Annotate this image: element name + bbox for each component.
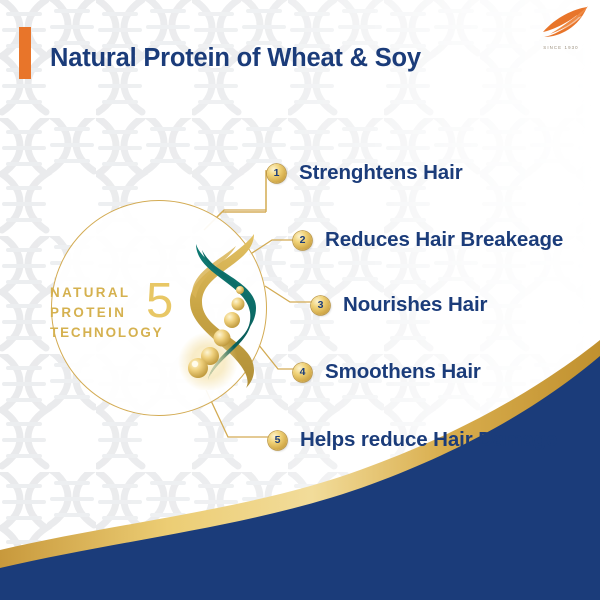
title-accent-bar: [19, 27, 31, 79]
benefit-item-4[interactable]: 4 Smoothens Hair: [293, 360, 481, 384]
benefit-item-3[interactable]: 3 Nourishes Hair: [311, 293, 487, 317]
benefit-item-5[interactable]: 5 Helps reduce Hair Damage: [268, 428, 557, 452]
benefit-label-1: Strenghtens Hair: [299, 161, 463, 185]
benefit-number-2: 2: [293, 231, 312, 250]
benefit-number-3: 3: [311, 296, 330, 315]
benefit-number-4: 4: [293, 363, 312, 382]
dna-helix-icon: [168, 228, 280, 390]
benefit-item-2[interactable]: 2 Reduces Hair Breakeage: [293, 228, 563, 252]
brand-logo: SINCE 1930: [530, 4, 592, 52]
benefit-label-5: Helps reduce Hair Damage: [300, 428, 557, 452]
benefit-label-4: Smoothens Hair: [325, 360, 481, 384]
benefit-item-1[interactable]: 1 Strenghtens Hair: [267, 161, 463, 185]
benefit-number-1: 1: [267, 164, 286, 183]
benefit-label-3: Nourishes Hair: [343, 293, 487, 317]
promo-poster: Natural Protein of Wheat & Soy SINCE 193…: [0, 0, 600, 600]
flame-leaf-icon: [530, 4, 592, 44]
brand-tagline: SINCE 1930: [530, 45, 592, 50]
benefit-number-5: 5: [268, 431, 287, 450]
page-title: Natural Protein of Wheat & Soy: [50, 44, 421, 73]
benefit-label-2: Reduces Hair Breakeage: [325, 228, 563, 252]
